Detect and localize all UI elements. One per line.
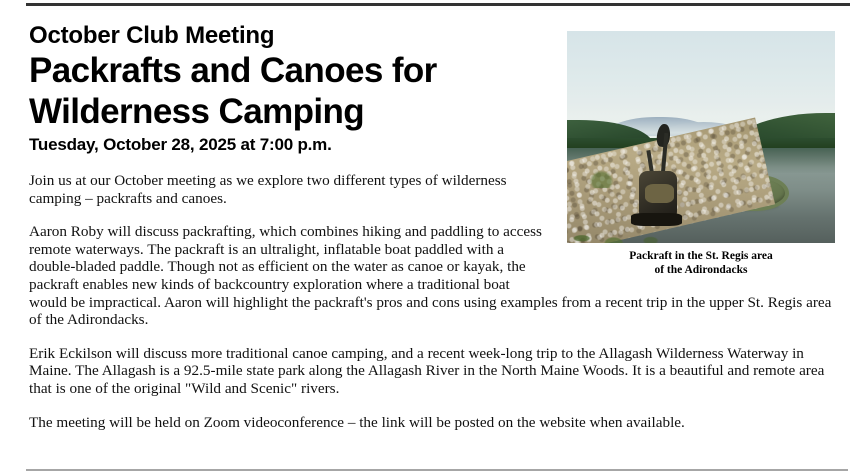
packraft-figure: Packraft in the St. Regis area of the Ad…: [567, 31, 835, 277]
content-column: Packraft in the St. Regis area of the Ad…: [29, 22, 835, 431]
paragraph-meeting-logistics: The meeting will be held on Zoom videoco…: [29, 414, 835, 432]
grass-tuft-upper: [572, 154, 631, 188]
packraft-photo: [567, 31, 835, 243]
paragraph-canoe-camping: Erik Eckilson will discuss more traditio…: [29, 345, 835, 398]
top-divider-rule: [26, 3, 850, 6]
photo-caption-line-2: of the Adirondacks: [654, 264, 747, 276]
newsletter-page: Packraft in the St. Regis area of the Ad…: [0, 0, 864, 475]
photo-caption-line-1: Packraft in the St. Regis area: [629, 250, 773, 262]
backpack-base: [631, 213, 682, 226]
bottom-divider-rule: [26, 469, 848, 471]
photo-caption: Packraft in the St. Regis area of the Ad…: [567, 249, 835, 277]
backpack-flap: [645, 184, 674, 203]
